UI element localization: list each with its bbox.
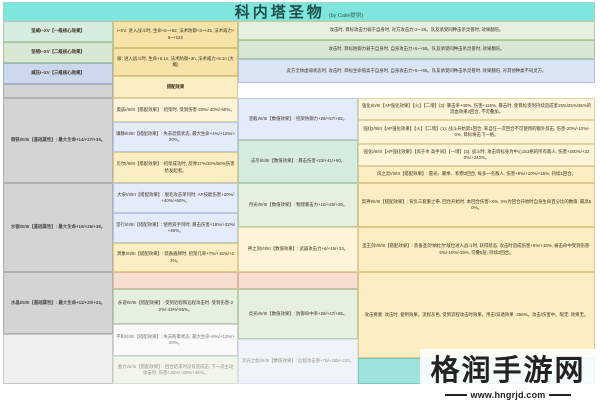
watermark-rule-left	[445, 394, 467, 396]
cell-match-crystal-1[interactable]: 永逝I/II/III【搭配效果】: 受到近程和远程攻击时, 受到伤害-22%/-…	[113, 289, 238, 324]
cell-base-steel[interactable]: 钢铁I/II/III【基础属性】: 最大生命+14/+27/+39。	[3, 98, 113, 183]
relic-grid: 坚威I~XV【一级核心效果】 坚韧I~XV【二级核心效果】 威压I~XV【三级核…	[3, 21, 595, 384]
cell-value-steel-1[interactable]: 坚毅I/II/III【数值效果】: 招架防御力+28/+57/+82。	[238, 98, 358, 140]
page-credit: (by Calei提供)	[329, 11, 364, 19]
cell-value-mercury-1[interactable]: 月光I/II/III【数值效果】: 物理暴击力+10/+20/+29。	[238, 183, 358, 227]
cell-match-steel-1[interactable]: 奥兹I/II/III【搭配效果】: 招架时, 受到伤害-20%/-40%/-60…	[113, 98, 238, 122]
cell-base-crystal-spacer	[3, 334, 113, 384]
cell-value-crystal-2[interactable]: 流光之枪I/II/III【数值效果】: 远程攻击值+76/+155/+222。	[238, 339, 358, 384]
cell-core-detail-2[interactable]: 攻击时, 目标防御力弱于自身时, 自身攻击力+5~+55。队友承受同种击杀灵兽时…	[238, 40, 595, 59]
cell-ap-crystal-1[interactable]: 攻击要素: 攻击时, 使用效果。流程灰色, 受到流程攻击时效果。用击/穿透效果 …	[358, 272, 595, 358]
cell-core-1[interactable]: 坚威I~XV【一级核心效果】	[3, 21, 113, 42]
cell-value-steel-2[interactable]: 志尽I/II/III【数值效果】: 暴击伤害+23/+41/+60。	[238, 140, 358, 183]
cell-value-crystal-1[interactable]: 灵光I/II/III【数值效果】: 防御命中率+29/+47/+65。	[238, 289, 358, 339]
cell-core-detail-3[interactable]: 友方全体虚弱状态时, 攻击时, 目标生命值高于自身时, 自身攻击力+5~+55。…	[238, 59, 595, 83]
cell-match-steel-2[interactable]: 镇静I/II/III【搭配效果】: 失去恐慌状态, 最大生命+4%/+12%/+…	[113, 122, 238, 152]
cell-ap-steel-2[interactable]: 强化I/II/III【AP强化效果】【火】【二增】(1): 战斗开始第1回合, …	[358, 120, 595, 144]
cell-core-summary-3[interactable]: 搭配效果	[113, 76, 238, 98]
cell-match-mercury-3[interactable]: 冥象I/II/III【搭配效果】: 装备盾牌时, 招架几率+7%/+15%/+2…	[113, 243, 238, 272]
cell-ap-steel-3[interactable]: 强化I/II/III【AP强化效果】【风于水 高手间】【一增】(3): 战斗时,…	[358, 144, 595, 166]
cell-value-crystal-0[interactable]	[238, 272, 358, 289]
cell-core-spacer	[3, 84, 113, 98]
cell-core-summary-1[interactable]: I~XV: 进入战斗时, 生命+6~+92, 法术防御+3~+45, 法术威力+…	[113, 21, 238, 48]
cell-base-mercury[interactable]: 水银I/II/III【基础属性】: 最大生命+15/+26/+38。	[3, 183, 113, 272]
cell-ap-mercury-1[interactable]: 契神I/II/III【搭配效果】: 背负三套重之拳, 回合开始时, 本回合伤害+…	[358, 183, 595, 227]
cell-core-3[interactable]: 威压I~XV【三级核心效果】	[3, 63, 113, 84]
cell-ap-crystal-2[interactable]	[358, 358, 595, 384]
cell-match-steel-3[interactable]: 贝尔I/II/III【搭配效果】: 招架成功时, 反弹17%/33%/50%伤害…	[113, 152, 238, 183]
cell-core-detail-1[interactable]: 攻击时, 目标攻击力弱于自身时, 对方攻击力-2~-26。队友承受同种击杀灵兽时…	[238, 21, 595, 40]
cell-ap-mercury-2[interactable]: 圣王剑I/II/III【搭配效果】: 装备圣剑'纳杜尔'敌位进入战斗时, 获得状…	[358, 227, 595, 272]
watermark-rule-right	[549, 394, 571, 396]
cell-base-crystal[interactable]: 水晶I/II/III【基础属性】: 最大生命+11/+20/+33。	[3, 272, 113, 334]
cell-match-crystal-2[interactable]: 平和I/II/III【搭配效果】: 失去眩晕状态, 最大生命+6%/+12%/+…	[113, 324, 238, 356]
cell-match-crystal-0[interactable]	[113, 272, 238, 289]
cell-match-crystal-3[interactable]: 重力I/II/III【搭配效果】: 回合结束时没有造成击, 下一次主动攻击时, …	[113, 356, 238, 384]
page-title-bar: 科内塔圣物 (by Calei提供)	[3, 2, 595, 21]
watermark-url: www.hngrjd.com	[471, 390, 546, 400]
cell-value-mercury-2[interactable]: 神之剑I/II/III【数值效果】: 武器攻击力+6/+15/+24。	[238, 227, 358, 272]
cell-ap-steel-1[interactable]: 强化I/II/III【AP强化效果】【火】【二增】(3): 暴击率+40%, 伤…	[358, 98, 595, 120]
cell-core-summary-2[interactable]: 级: 进入战斗时, 生命+6.1n, 法术防御+3n, 法术威力+8.1n (大…	[113, 48, 238, 76]
cell-match-mercury-1[interactable]: 大泉I/II/III【搭配效果】: 脱毛攻击单列时, AP技能伤害+20%/+4…	[113, 183, 238, 213]
cell-ap-steel-4[interactable]: 风之灵I/II/III【搭配效果】: 雷光、暖季、积攒2回合, 每多一名敌人, …	[358, 166, 595, 183]
watermark-url-row: www.hngrjd.com	[420, 390, 596, 400]
page-title: 科内塔圣物	[235, 1, 325, 22]
relic-table-page: 科内塔圣物 (by Calei提供) 坚威I~XV【一级核心效果】 坚韧I~XV…	[0, 0, 600, 409]
cell-match-mercury-2[interactable]: 坚行I/II/III【搭配效果】: 使用双手剑时, 暴击伤害+18%/+32%/…	[113, 213, 238, 243]
cell-core-2[interactable]: 坚韧I~XV【二级核心效果】	[3, 42, 113, 63]
